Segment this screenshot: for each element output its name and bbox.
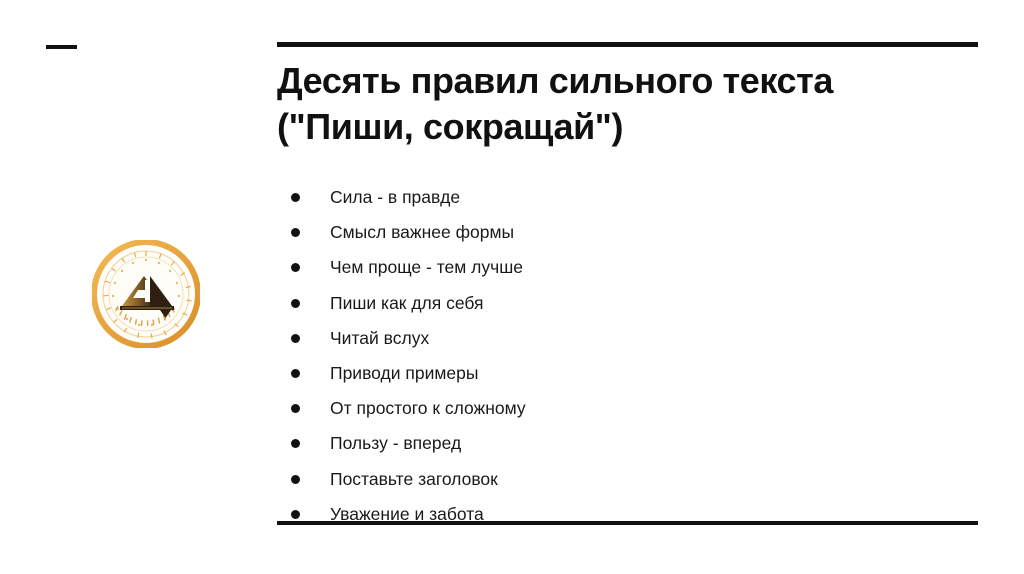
list-item: Сила - в правде: [291, 180, 951, 215]
list-item: От простого к сложному: [291, 391, 951, 426]
bullet-dot-icon: [291, 369, 300, 378]
list-item-label: Приводи примеры: [330, 363, 478, 384]
list-item: Чем проще - тем лучше: [291, 250, 951, 285]
bullet-dot-icon: [291, 228, 300, 237]
list-item-label: От простого к сложному: [330, 398, 526, 419]
slide-canvas: Десять правил сильного текста("Пиши, сок…: [0, 0, 1024, 574]
list-item: Пользу - вперед: [291, 426, 951, 461]
rules-list: Сила - в правде Смысл важнее формы Чем п…: [291, 180, 951, 532]
bullet-dot-icon: [291, 263, 300, 272]
bullet-dot-icon: [291, 334, 300, 343]
list-item-label: Сила - в правде: [330, 187, 460, 208]
list-item-label: Пользу - вперед: [330, 433, 461, 454]
bullet-dot-icon: [291, 404, 300, 413]
list-item: Уважение и забота: [291, 497, 951, 532]
bottom-divider: [277, 521, 978, 525]
list-item: Поставьте заголовок: [291, 462, 951, 497]
bullet-dot-icon: [291, 475, 300, 484]
list-item: Смысл важнее формы: [291, 215, 951, 250]
corner-dash-mark: [46, 45, 77, 49]
page-title: Десять правил сильного текста("Пиши, сок…: [277, 58, 967, 150]
list-item-label: Смысл важнее формы: [330, 222, 514, 243]
list-item-label: Пиши как для себя: [330, 293, 483, 314]
bullet-dot-icon: [291, 510, 300, 519]
title-line-2: ("Пиши, сокращай"): [277, 106, 623, 147]
list-item: Приводи примеры: [291, 356, 951, 391]
list-item-label: Поставьте заголовок: [330, 469, 498, 490]
bullet-dot-icon: [291, 439, 300, 448]
list-item: Читай вслух: [291, 321, 951, 356]
list-item-label: Читай вслух: [330, 328, 429, 349]
list-item: Пиши как для себя: [291, 286, 951, 321]
top-divider: [277, 42, 978, 47]
logo-emblem: [92, 240, 200, 348]
bullet-dot-icon: [291, 299, 300, 308]
title-line-1: Десять правил сильного текста: [277, 60, 833, 101]
list-item-label: Чем проще - тем лучше: [330, 257, 523, 278]
bullet-dot-icon: [291, 193, 300, 202]
